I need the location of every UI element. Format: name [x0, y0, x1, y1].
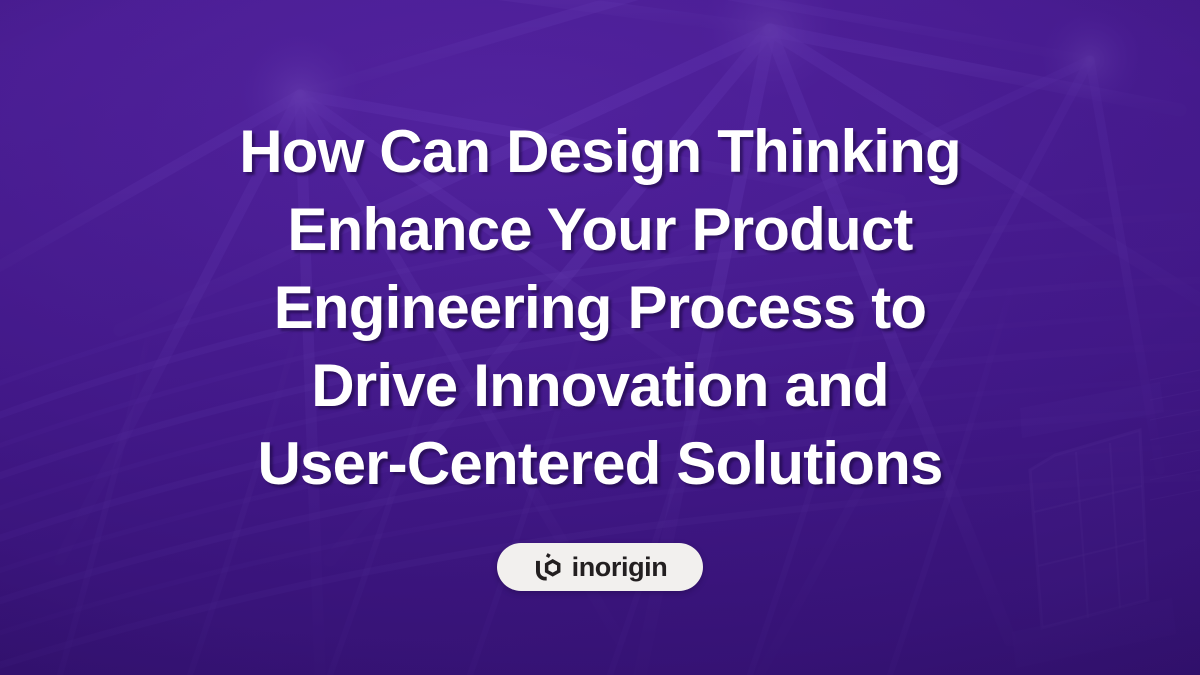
brand-logo: inorigin	[497, 543, 703, 591]
card-content: How Can Design Thinking Enhance Your Pro…	[0, 0, 1200, 675]
brand-wordmark: inorigin	[572, 554, 668, 581]
headline-line-1: How Can Design Thinking	[80, 113, 1120, 191]
hexagon-cube-icon	[533, 552, 563, 582]
headline-line-2: Enhance Your Product	[80, 191, 1120, 269]
headline-line-4: Drive Innovation and	[80, 347, 1120, 425]
page-title: How Can Design Thinking Enhance Your Pro…	[80, 113, 1120, 503]
title-card: How Can Design Thinking Enhance Your Pro…	[0, 0, 1200, 675]
headline-line-3: Engineering Process to	[80, 269, 1120, 347]
headline-line-5: User-Centered Solutions	[80, 425, 1120, 503]
